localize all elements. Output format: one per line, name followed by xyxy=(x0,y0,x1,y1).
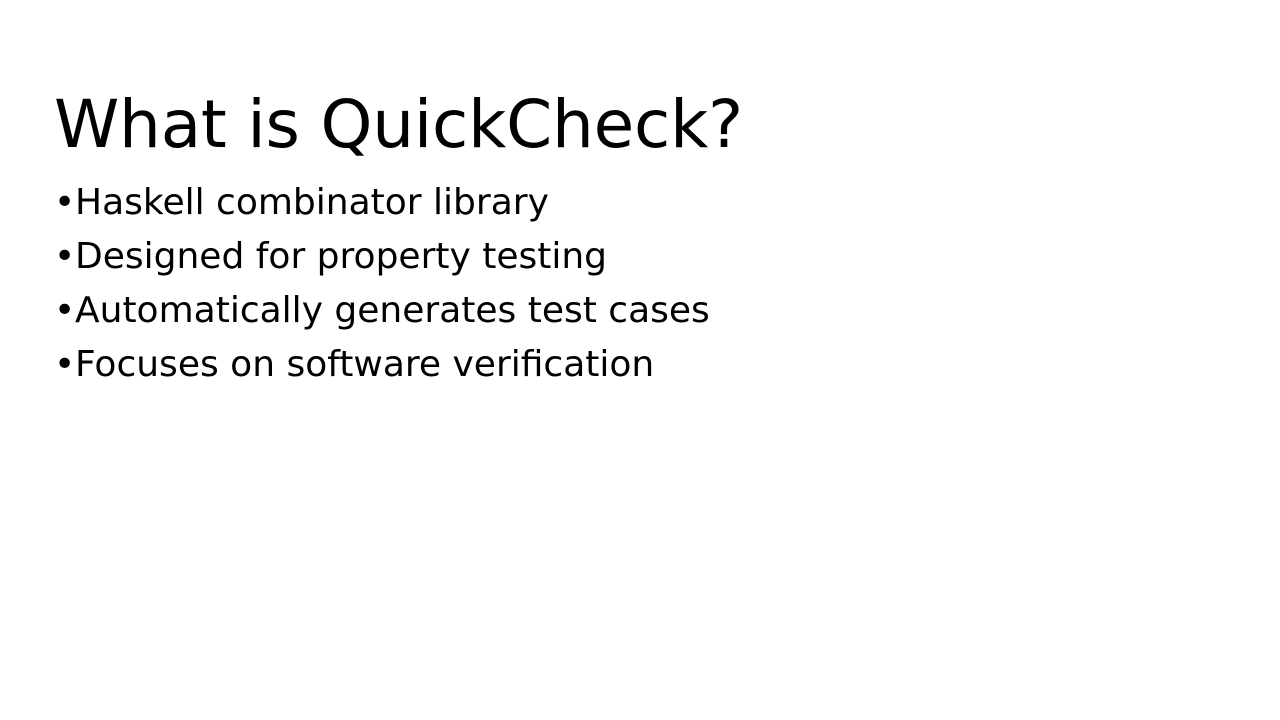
slide-canvas: What is QuickCheck? • Haskell combinator… xyxy=(0,0,1280,720)
bullet-dot-icon: • xyxy=(54,182,75,224)
bullet-text: Automatically generates test cases xyxy=(75,290,710,332)
bullet-text: Designed for property testing xyxy=(75,236,607,278)
list-item: • Designed for property testing xyxy=(54,236,1224,290)
bullet-text: Haskell combinator library xyxy=(75,182,549,224)
list-item: • Automatically generates test cases xyxy=(54,290,1224,344)
bullet-dot-icon: • xyxy=(54,236,75,278)
bullet-list: • Haskell combinator library • Designed … xyxy=(54,182,1224,398)
bullet-dot-icon: • xyxy=(54,344,75,386)
bullet-dot-icon: • xyxy=(54,290,75,332)
list-item: • Focuses on software verification xyxy=(54,344,1224,398)
list-item: • Haskell combinator library xyxy=(54,182,1224,236)
bullet-text: Focuses on software verification xyxy=(75,344,654,386)
slide-title: What is QuickCheck? xyxy=(54,92,1224,158)
